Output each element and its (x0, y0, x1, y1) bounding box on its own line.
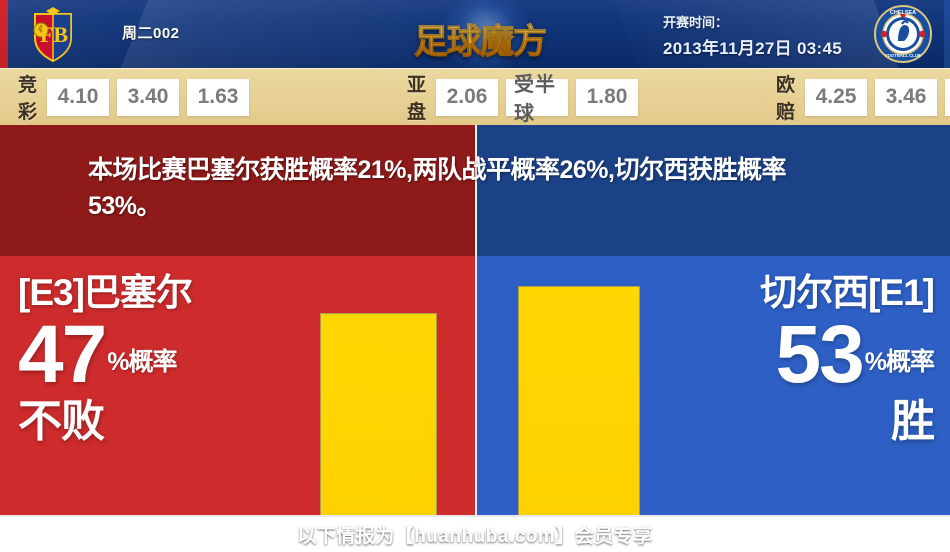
odds-cell-home[interactable]: 4.10 (47, 79, 109, 116)
svg-text:FB: FB (40, 22, 68, 47)
home-probability-value: 47 (18, 317, 105, 392)
odds-group-title: 欧赔 (776, 70, 796, 124)
kickoff-label: 开赛时间： (663, 12, 842, 31)
kickoff-value: 2013年11月27日 03:45 (663, 34, 842, 59)
chelsea-crest-icon: CHELSEA FOOTBALL CLUB (874, 5, 932, 63)
home-probability-row: 47 %概率 (18, 317, 308, 392)
odds-cell-away[interactable]: 1.80 (576, 79, 638, 116)
away-probability-unit: %概率 (865, 342, 934, 392)
odds-group-title: 竞彩 (18, 70, 38, 124)
away-probability-row: 53 %概率 (644, 317, 934, 392)
site-brand-logo: 足球魔方 (400, 4, 560, 64)
fc-basel-crest-icon: FB (22, 4, 84, 64)
svg-text:FOOTBALL CLUB: FOOTBALL CLUB (885, 53, 921, 58)
odds-group-asian-handicap: 亚盘 2.06 受半球 1.80 (407, 70, 646, 124)
match-prediction-infographic: FB 周二002 足球魔方 开赛时间： 2013年11月27日 03:45 (0, 0, 950, 552)
odds-group-title: 亚盘 (407, 70, 427, 124)
header-left-accent (0, 0, 8, 68)
brand-title: 足球魔方 (400, 14, 560, 63)
odds-cell-handicap[interactable]: 受半球 (506, 79, 568, 116)
odds-cell-away[interactable]: 1.84 (945, 79, 950, 116)
away-team-block: 切尔西[E1] 53 %概率 胜 (644, 274, 934, 444)
odds-bar: 竞彩 4.10 3.40 1.63 亚盘 2.06 受半球 1.80 欧赔 4.… (0, 68, 950, 125)
away-outcome-label: 胜 (644, 400, 934, 444)
home-outcome-label: 不败 (18, 400, 308, 444)
home-probability-unit: %概率 (107, 342, 176, 392)
probability-summary-banner: 本场比赛巴塞尔获胜概率21%,两队战平概率26%,切尔西获胜概率53%。 (0, 125, 950, 256)
odds-cell-home[interactable]: 2.06 (436, 79, 498, 116)
kickoff-time-block: 开赛时间： 2013年11月27日 03:45 (663, 12, 842, 59)
away-team-name: 切尔西[E1] (644, 274, 934, 311)
svg-text:CHELSEA: CHELSEA (890, 10, 916, 16)
home-team-name: [E3]巴塞尔 (18, 274, 308, 311)
home-team-panel: [E3]巴塞尔 47 %概率 不败 (0, 256, 475, 515)
odds-cell-home[interactable]: 4.25 (805, 79, 867, 116)
odds-cell-draw[interactable]: 3.46 (875, 79, 937, 116)
away-probability-value: 53 (776, 317, 863, 392)
footer-bar: 以下情报为【huanhuba.com】会员专享 (0, 515, 950, 552)
away-probability-bar (518, 286, 640, 515)
team-probability-panels: [E3]巴塞尔 47 %概率 不败 切尔西[E1] 53 %概率 胜 (0, 256, 950, 515)
header-right-accent (944, 0, 950, 68)
match-round-label: 周二002 (122, 22, 180, 43)
home-probability-bar (320, 313, 437, 515)
header-bar: FB 周二002 足球魔方 开赛时间： 2013年11月27日 03:45 (0, 0, 950, 68)
home-team-block: [E3]巴塞尔 47 %概率 不败 (18, 274, 308, 444)
odds-group-european: 欧赔 4.25 3.46 1.84 (776, 70, 950, 124)
probability-summary-text: 本场比赛巴塞尔获胜概率21%,两队战平概率26%,切尔西获胜概率53%。 (88, 153, 858, 224)
footer-notice-text: 以下情报为【huanhuba.com】会员专享 (297, 521, 653, 548)
odds-group-jingcai: 竞彩 4.10 3.40 1.63 (18, 70, 257, 124)
odds-cell-draw[interactable]: 3.40 (117, 79, 179, 116)
odds-cell-away[interactable]: 1.63 (187, 79, 249, 116)
away-team-panel: 切尔西[E1] 53 %概率 胜 (475, 256, 950, 515)
